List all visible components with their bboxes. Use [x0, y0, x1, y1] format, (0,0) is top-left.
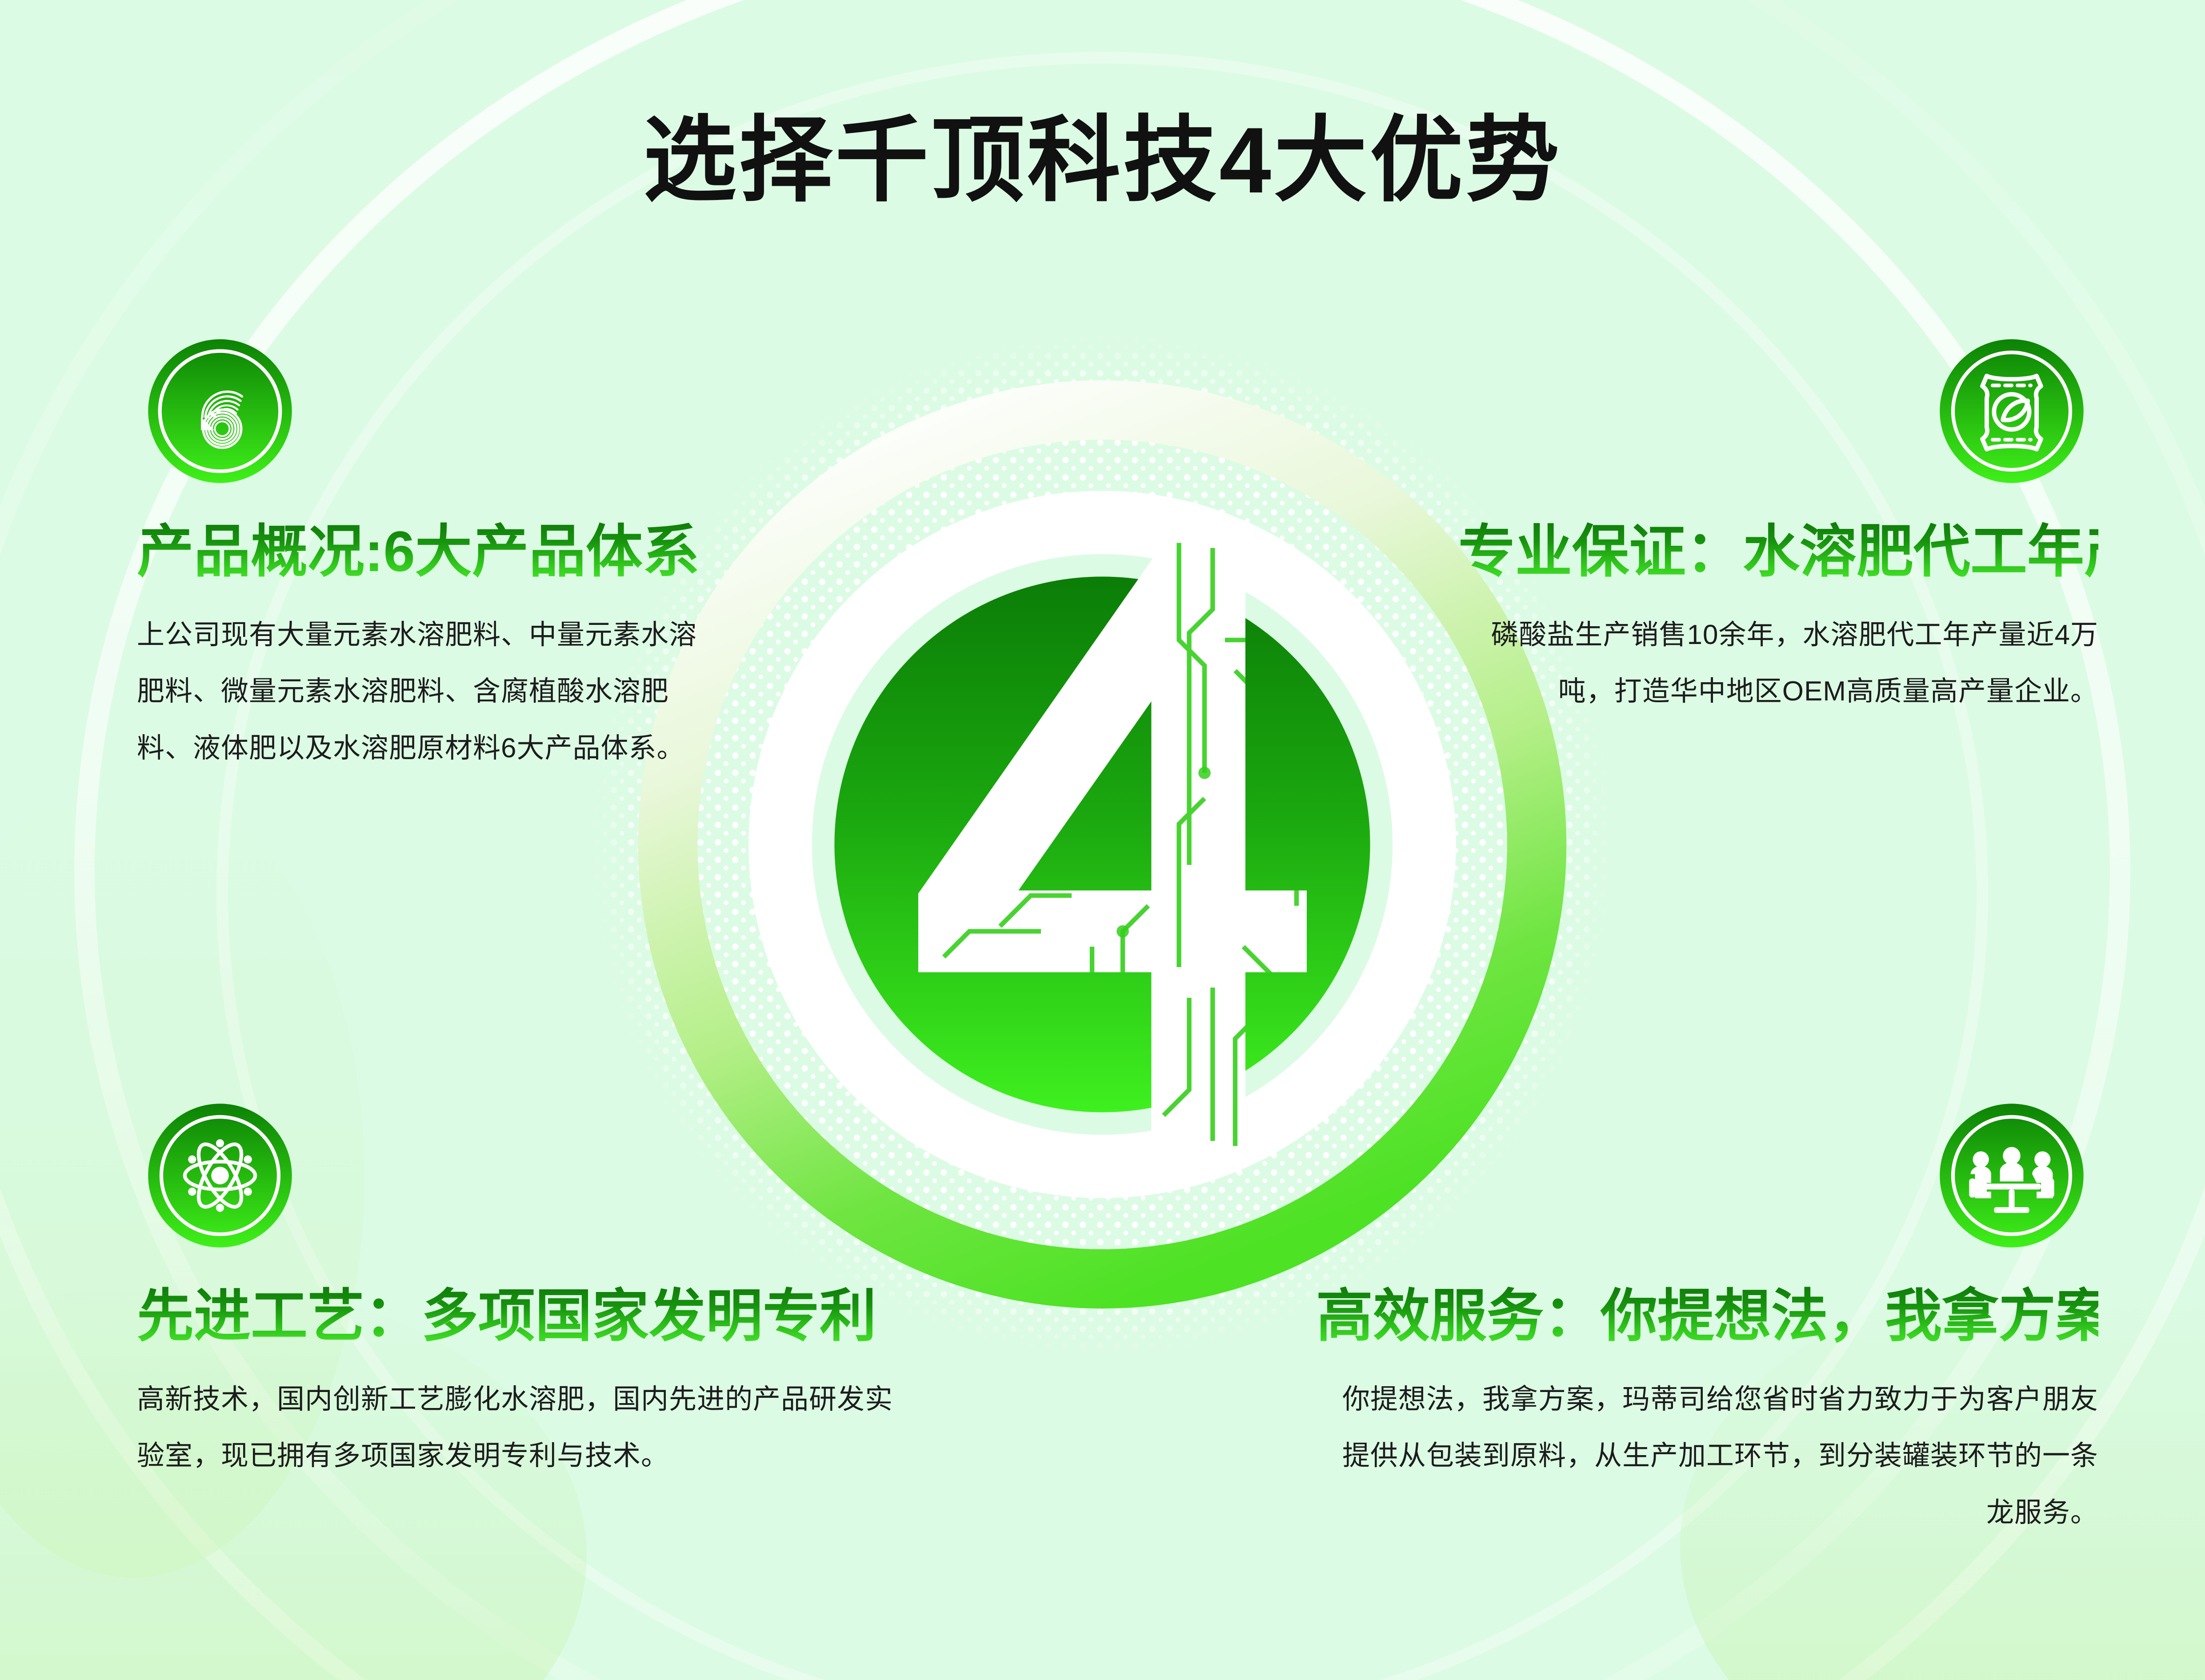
- advantage-card-bottom-left: 先进工艺：多项国家发明专利 高新技术，国内创新工艺膨化水溶肥，国内先进的产品研发…: [133, 1102, 907, 1484]
- atom-icon: [147, 1102, 293, 1249]
- advantage-body: 高新技术，国内创新工艺膨化水溶肥，国内先进的产品研发实验室，现已拥有多项国家发明…: [137, 1371, 907, 1484]
- advantage-heading: 专业保证：水溶肥代工年产量近4万吨: [1458, 520, 2098, 584]
- advantage-card-bottom-right: 高效服务：你提想法，我拿方案 你提想法，我拿方案，玛蒂司给您省时省力致力于为客户…: [1316, 1102, 2098, 1541]
- advantage-card-top-right: 专业保证：水溶肥代工年产量近4万吨 磷酸盐生产销售10余年，水溶肥代工年产量近4…: [1458, 338, 2098, 720]
- fertilizer-bag-icon: [1938, 338, 2085, 484]
- advantage-body: 你提想法，我拿方案，玛蒂司给您省时省力致力于为客户朋友提供从包装到原料，从生产加…: [1316, 1371, 2098, 1540]
- number-six-badge-icon: [147, 338, 293, 484]
- page-title: 选择千顶科技4大优势: [0, 84, 2205, 220]
- advantage-card-top-left: 产品概况:6大产品体系 上公司现有大量元素水溶肥料、中量元素水溶肥料、微量元素水…: [133, 338, 724, 776]
- advantage-heading: 先进工艺：多项国家发明专利: [137, 1284, 907, 1348]
- advantage-heading: 高效服务：你提想法，我拿方案: [1316, 1284, 2098, 1348]
- advantage-heading: 产品概况:6大产品体系: [137, 520, 724, 584]
- advantage-body: 磷酸盐生产销售10余年，水溶肥代工年产量近4万吨，打造华中地区OEM高质量高产量…: [1458, 607, 2098, 720]
- advantage-body: 上公司现有大量元素水溶肥料、中量元素水溶肥料、微量元素水溶肥料、含腐植酸水溶肥料…: [137, 607, 724, 776]
- meeting-people-icon: [1938, 1102, 2085, 1249]
